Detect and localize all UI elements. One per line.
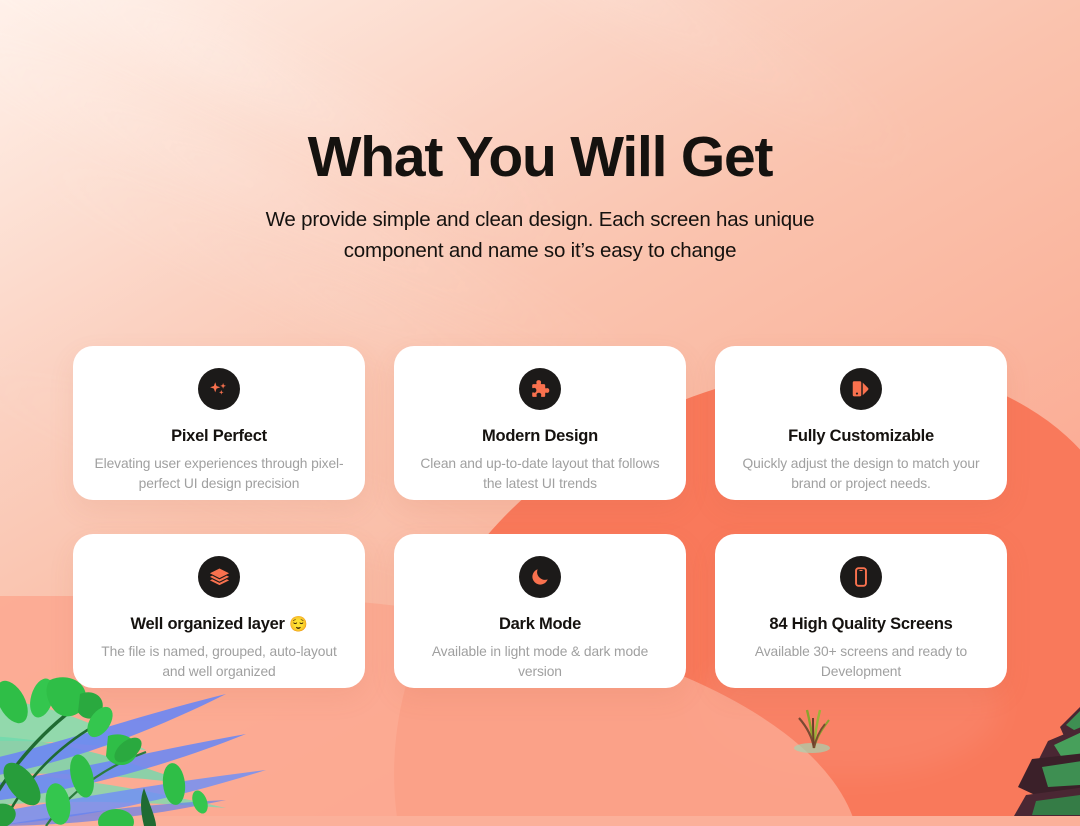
feature-card-well-organized-layer[interactable]: Well organized layer 😌 The file is named… <box>73 534 365 688</box>
layers-icon <box>198 556 240 598</box>
card-description: Available in light mode & dark mode vers… <box>414 642 666 683</box>
feature-card-dark-mode[interactable]: Dark Mode Available in light mode & dark… <box>394 534 686 688</box>
feature-card-fully-customizable[interactable]: Fully Customizable Quickly adjust the de… <box>715 346 1007 500</box>
card-description: Elevating user experiences through pixel… <box>93 454 345 495</box>
moon-icon <box>519 556 561 598</box>
card-title-text: Dark Mode <box>499 615 581 633</box>
mobile-phone-icon <box>840 556 882 598</box>
feature-card-pixel-perfect[interactable]: Pixel Perfect Elevating user experiences… <box>73 346 365 500</box>
card-description: Clean and up-to-date layout that follows… <box>414 454 666 495</box>
card-title: Fully Customizable <box>788 427 934 447</box>
card-title: 84 High Quality Screens <box>769 615 952 635</box>
color-swatch-icon <box>840 368 882 410</box>
card-title-text: Fully Customizable <box>788 427 934 445</box>
card-title-text: Well organized layer <box>130 615 284 633</box>
feature-card-high-quality-screens[interactable]: 84 High Quality Screens Available 30+ sc… <box>715 534 1007 688</box>
card-title-text: 84 High Quality Screens <box>769 615 952 633</box>
card-title: Dark Mode <box>499 615 581 635</box>
sparkles-icon <box>198 368 240 410</box>
card-title-text: Pixel Perfect <box>171 427 267 445</box>
card-title-emoji: 😌 <box>289 616 307 633</box>
card-title: Pixel Perfect <box>171 427 267 447</box>
card-title: Modern Design <box>482 427 598 447</box>
botanical-plant-left <box>0 676 306 826</box>
puzzle-piece-icon <box>519 368 561 410</box>
grass-tuft-center <box>786 698 842 754</box>
card-description: Available 30+ screens and ready to Devel… <box>735 642 987 683</box>
feature-card-modern-design[interactable]: Modern Design Clean and up-to-date layou… <box>394 346 686 500</box>
card-title: Well organized layer 😌 <box>130 615 307 635</box>
card-title-text: Modern Design <box>482 427 598 445</box>
page-title: What You Will Get <box>0 128 1080 188</box>
page-subtitle: We provide simple and clean design. Each… <box>230 205 850 267</box>
rock-foliage-right <box>956 691 1080 816</box>
card-description: Quickly adjust the design to match your … <box>735 454 987 495</box>
feature-card-grid: Pixel Perfect Elevating user experiences… <box>73 346 1007 688</box>
